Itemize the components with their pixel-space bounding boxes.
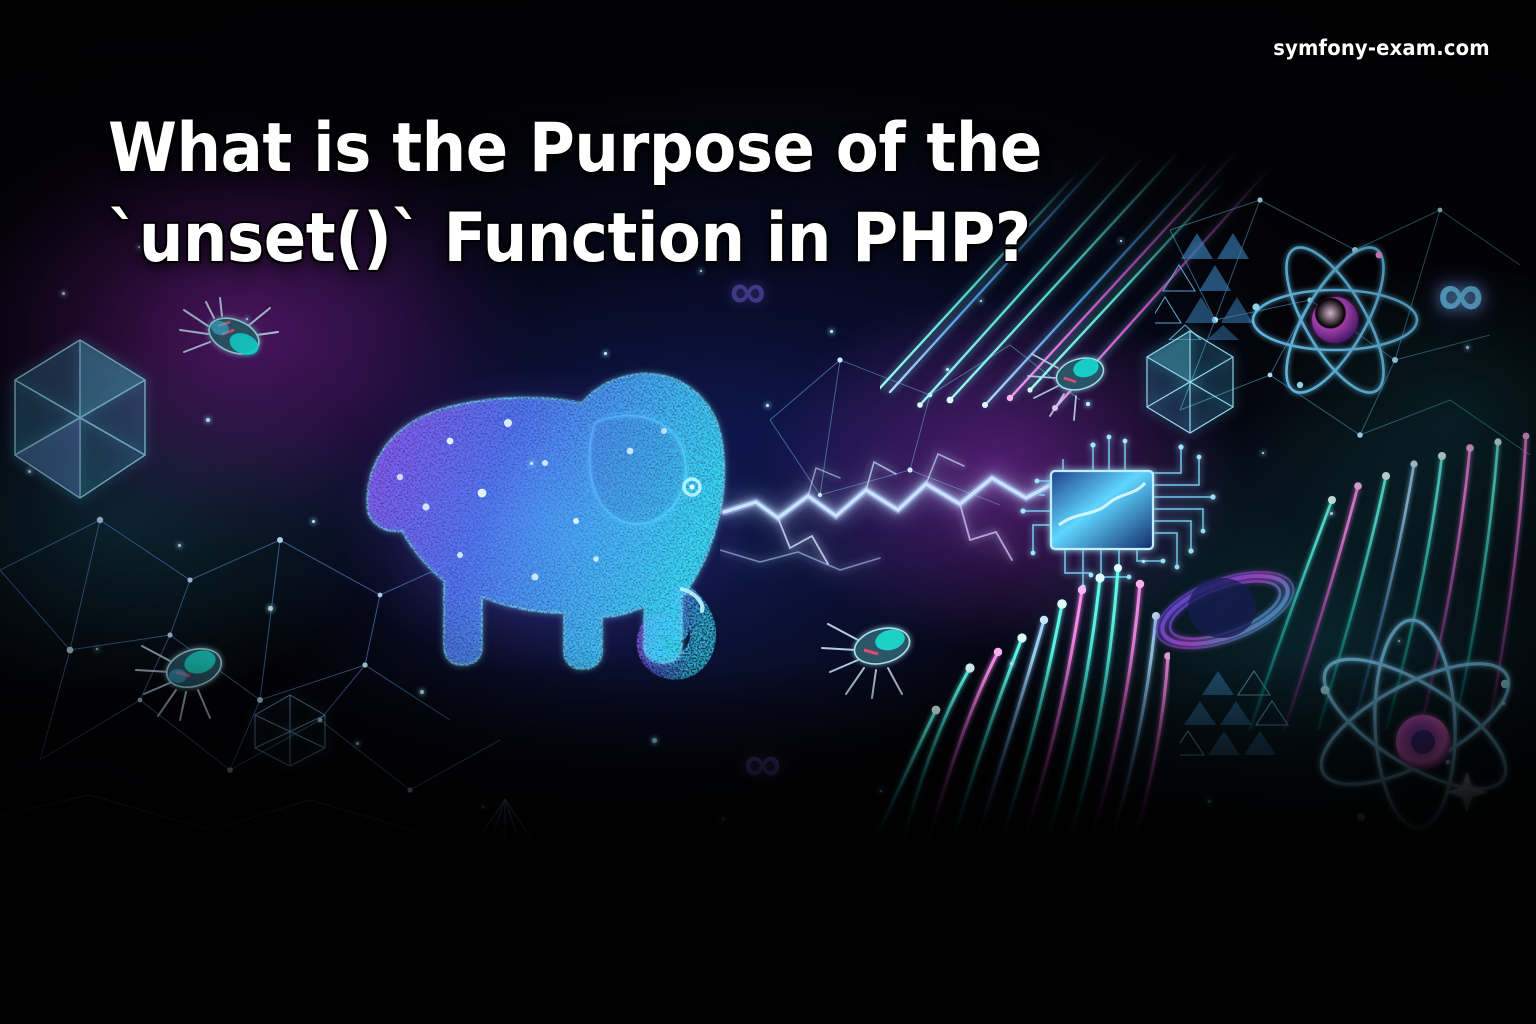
atom-bottom-right xyxy=(1295,612,1535,837)
watermark-label: symfony-exam.com xyxy=(1274,36,1490,60)
icosahedron-right xyxy=(1135,325,1245,440)
robot-bug-top-left xyxy=(178,296,288,386)
infinity-bright-icon: ∞ xyxy=(1438,262,1484,326)
robot-bug-upper-right xyxy=(1024,340,1124,425)
ringed-planet xyxy=(1150,548,1300,673)
php-elephant xyxy=(330,345,760,695)
polyhedron-bottom-left xyxy=(245,690,335,770)
robot-bug-center-right xyxy=(818,608,938,708)
page-title: What is the Purpose of the `unset()` Fun… xyxy=(108,104,1065,285)
atom-top-right xyxy=(1240,235,1430,405)
robot-bug-bottom-left xyxy=(128,628,248,728)
banner-root: ∞ ∞ ∞ xyxy=(0,0,1536,1024)
wireframe-pyramid xyxy=(465,795,545,845)
icosahedron-left xyxy=(0,330,165,510)
infinity-dim-lower-icon: ∞ xyxy=(744,738,781,790)
